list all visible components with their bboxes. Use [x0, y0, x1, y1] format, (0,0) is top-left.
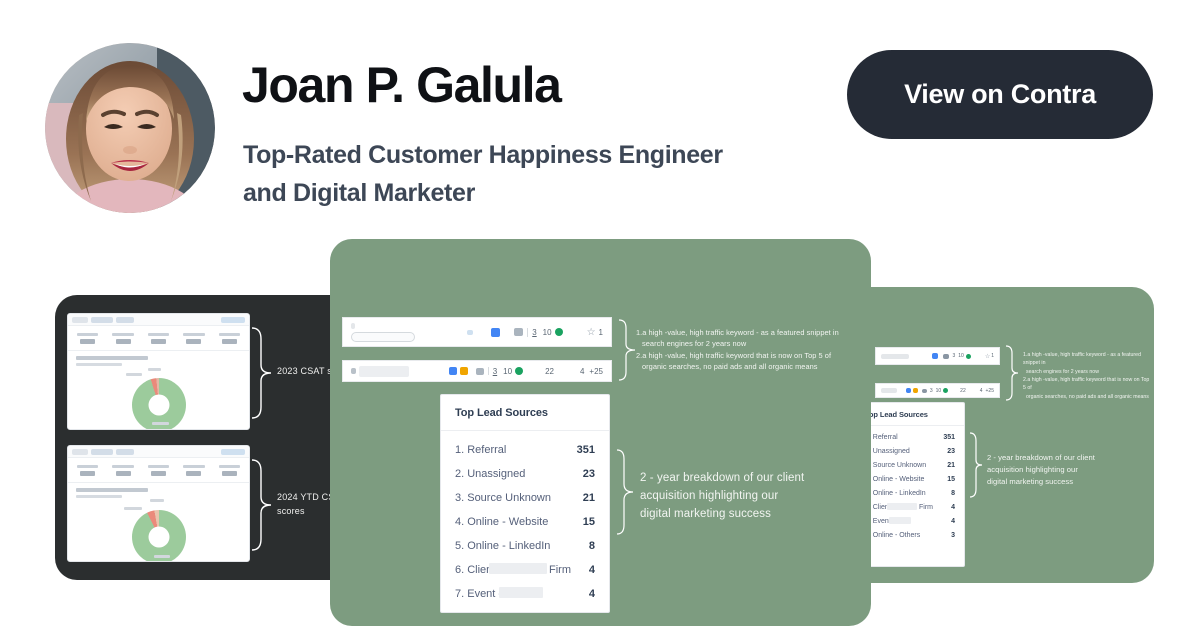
info-badge-icon	[491, 328, 500, 337]
rank-value: 3	[532, 328, 536, 337]
info-badge-icon	[932, 353, 938, 359]
lead-value: 4	[589, 588, 595, 600]
seo-anno-line-1: 1.a high -value, high traffic keyword - …	[1023, 351, 1151, 368]
volume-value-small: 22	[960, 388, 966, 394]
lead-value: 23	[947, 448, 955, 455]
table-row: 4. Online - Website 15	[455, 510, 595, 534]
search-input-text	[351, 323, 355, 329]
top-lead-sources-card[interactable]: Top Lead Sources 1. Referral 351 2. Unas…	[440, 394, 610, 613]
leads-list: 1. Referral 351 2. Unassigned 23 3. Sour…	[441, 431, 609, 613]
star-icon: ☆	[985, 353, 990, 360]
table-row: 3. Source Unknown 21	[455, 486, 595, 510]
star-value-small: 1	[991, 353, 994, 359]
dashboard-toolbar	[68, 314, 249, 326]
toolbar-filter-chip	[116, 317, 134, 323]
lead-label: 1. Referral	[455, 444, 506, 456]
status-dot-icon	[943, 388, 948, 393]
warning-badge-icon	[460, 367, 468, 375]
subtitle-line-1: Top-Rated Customer Happiness Engineer	[243, 136, 823, 174]
donut-chart-area	[68, 351, 249, 428]
leads-anno-line-2: acquisition highlighting our	[987, 464, 1117, 476]
count-value: 10	[543, 328, 552, 337]
rank-value-2: 3	[493, 367, 497, 376]
warning-badge-icon	[913, 388, 918, 393]
lead-label: 5. Online - LinkedIn	[865, 490, 926, 497]
leads-annotation: 2 - year breakdown of our client acquisi…	[640, 470, 858, 523]
leads-anno-line-2: acquisition highlighting our	[640, 488, 858, 506]
search-input-text	[351, 368, 356, 374]
brace-2023	[251, 327, 273, 419]
dashboard-toolbar	[68, 446, 249, 458]
seo-anno-line-3: 2.a high -value, high traffic keyword th…	[636, 350, 858, 361]
redacted-text	[889, 517, 911, 524]
lead-label: 8. Online - Others	[455, 612, 542, 613]
search-hint-text	[467, 330, 473, 335]
kpi-metric	[105, 465, 140, 476]
lead-label: 4. Online - Website	[455, 516, 548, 528]
kpi-metric	[70, 465, 105, 476]
seo-anno-line-4: organic searches, no paid ads and all or…	[636, 361, 858, 372]
donut-label	[150, 499, 164, 502]
redacted-text	[489, 563, 547, 574]
brace-2024	[251, 459, 273, 551]
count-value-small-2: 10	[936, 388, 942, 394]
lead-label: 2. Unassigned	[455, 468, 525, 480]
csat-dashboard-2024[interactable]	[67, 445, 250, 562]
brace-seo-small	[1005, 345, 1019, 401]
redacted-text	[499, 587, 543, 598]
table-row: 8. Online - Others 3	[455, 606, 595, 613]
page-subtitle: Top-Rated Customer Happiness Engineer an…	[243, 136, 823, 212]
delta-value-small: +25	[986, 388, 994, 394]
toolbar-chip	[72, 317, 88, 323]
delta-value: +25	[589, 367, 603, 376]
keyword-search-row-small-2[interactable]: 3 10 22 4 +25	[875, 383, 1000, 398]
toolbar-action-chip	[221, 449, 245, 455]
lead-label: 5. Online - LinkedIn	[455, 540, 550, 552]
count-value-2: 10	[503, 367, 512, 376]
leads-anno-line-3: digital marketing success	[987, 476, 1117, 488]
status-dot-icon	[555, 328, 563, 336]
list-icon	[476, 368, 484, 375]
donut-label	[154, 555, 170, 558]
lead-label: 2. Unassigned	[865, 448, 910, 455]
star-value: 1	[599, 328, 603, 337]
seo-annotation-small: 1.a high -value, high traffic keyword - …	[1023, 351, 1151, 401]
donut-label	[152, 422, 169, 425]
divider	[488, 367, 489, 375]
divider	[527, 328, 528, 337]
position-value: 4	[580, 367, 584, 376]
keyword-search-row-small[interactable]: 3 10 ☆ 1	[875, 347, 1000, 365]
kpi-metric	[70, 333, 105, 344]
donut-chart-area	[68, 483, 249, 560]
brace-leads	[616, 449, 634, 535]
kpi-metric	[141, 465, 176, 476]
volume-value: 22	[545, 367, 554, 376]
lead-value: 21	[583, 492, 595, 504]
avatar-photo	[45, 43, 215, 213]
seo-anno-line-4: organic searches, no paid ads and all or…	[1023, 393, 1151, 401]
lead-label: 4. Online - Website	[865, 476, 924, 483]
list-item: 5. Online - LinkedIn 8	[865, 486, 955, 500]
lead-label: 7. Event -	[455, 588, 502, 600]
list-item: 8. Online - Others 3	[865, 528, 955, 542]
donut-label	[148, 368, 161, 371]
toolbar-chip	[72, 449, 88, 455]
lead-value: 8	[589, 540, 595, 552]
seo-annotation: 1.a high -value, high traffic keyword - …	[636, 327, 858, 373]
lead-value: 21	[947, 462, 955, 469]
list-item: 3. Source Unknown 21	[865, 458, 955, 472]
lead-value: 15	[583, 516, 595, 528]
status-dot-icon	[515, 367, 523, 375]
table-row: 5. Online - LinkedIn 8	[455, 534, 595, 558]
position-value-small: 4	[980, 388, 983, 394]
list-icon	[943, 354, 949, 359]
info-badge-icon	[449, 367, 457, 375]
toolbar-action-chip	[221, 317, 245, 323]
table-row: 6. Clien Firm 4	[455, 558, 595, 582]
table-row: 1. Referral 351	[455, 438, 595, 462]
poster-canvas: Joan P. Galula Top-Rated Customer Happin…	[0, 0, 1200, 630]
seo-results-panel: 3 10 ☆ 1 3 10 22 4 +25 1.a high -value, …	[330, 239, 871, 626]
lead-label: 8. Online - Others	[865, 532, 920, 539]
toolbar-filter-chip	[91, 317, 113, 323]
toolbar-filter-chip	[91, 449, 113, 455]
seo-anno-line-3: 2.a high -value, high traffic keyword th…	[1023, 376, 1151, 393]
lead-value: 4	[951, 518, 955, 525]
chart-heading	[76, 488, 148, 498]
lead-label: 3. Source Unknown	[455, 492, 551, 504]
star-icon[interactable]: ☆	[587, 327, 596, 338]
kpi-metric	[176, 333, 211, 344]
list-item: 1. Referral 351	[865, 430, 955, 444]
brace-seo	[618, 319, 636, 381]
kpi-row	[68, 326, 249, 351]
info-badge-icon	[906, 388, 911, 393]
list-icon	[922, 389, 927, 393]
lead-value: 4	[951, 504, 955, 511]
toolbar-filter-chip	[116, 449, 134, 455]
leads-list-small: 1. Referral 351 2. Unassigned 23 3. Sour…	[856, 426, 964, 546]
csat-dashboard-2023[interactable]	[67, 313, 250, 430]
donut-label	[126, 373, 142, 376]
view-on-contra-label: View on Contra	[904, 79, 1096, 110]
top-lead-sources-card-small[interactable]: Top Lead Sources 1. Referral 351 2. Unas…	[855, 402, 965, 567]
lead-label: 6. Clien	[455, 564, 492, 576]
lead-value: 351	[577, 444, 595, 456]
avatar	[45, 43, 215, 213]
seo-anno-line-2: search engines for 2 years now	[1023, 368, 1151, 376]
donut-label	[124, 507, 142, 510]
subtitle-line-2: and Digital Marketer	[243, 174, 823, 212]
lead-value: 3	[951, 532, 955, 539]
status-dot-icon	[966, 354, 971, 359]
rank-value-small-2: 3	[930, 388, 933, 394]
redacted-text	[887, 503, 917, 510]
count-value-small: 10	[958, 353, 964, 359]
kpi-metric	[176, 465, 211, 476]
table-row: 7. Event - 4	[455, 582, 595, 606]
list-icon	[514, 328, 523, 336]
search-input-placeholder	[881, 354, 909, 359]
chart-heading	[76, 356, 148, 366]
leads-anno-line-1: 2 - year breakdown of our client	[640, 470, 858, 488]
keyword-filter-chip[interactable]	[351, 332, 415, 342]
lead-value: 351	[943, 434, 955, 441]
kpi-metric	[212, 465, 247, 476]
kpi-metric	[105, 333, 140, 344]
leads-anno-line-3: digital marketing success	[640, 506, 858, 524]
lead-value: 23	[583, 468, 595, 480]
lead-value: 15	[947, 476, 955, 483]
lead-value: 3	[589, 612, 595, 613]
list-item: 2. Unassigned 23	[865, 444, 955, 458]
keyword-search-row-2[interactable]: 3 10 22 4 +25	[342, 360, 612, 382]
lead-value: 4	[589, 564, 595, 576]
brace-leads-small	[969, 432, 983, 498]
rank-value-small: 3	[952, 353, 955, 359]
list-item: 4. Online - Website 15	[865, 472, 955, 486]
table-row: 2. Unassigned 23	[455, 462, 595, 486]
view-on-contra-button[interactable]: View on Contra	[847, 50, 1153, 139]
lead-label: 3. Source Unknown	[865, 462, 926, 469]
seo-anno-line-2: search engines for 2 years now	[636, 338, 858, 349]
leads-title: Top Lead Sources	[441, 395, 609, 431]
lead-label-tail: Firm	[549, 564, 571, 576]
list-item: 7. Event - 4	[865, 514, 955, 528]
search-input-placeholder	[881, 388, 897, 393]
leads-anno-line-1: 2 - year breakdown of our client	[987, 452, 1117, 464]
keyword-search-row[interactable]: 3 10 ☆ 1	[342, 317, 612, 347]
kpi-row	[68, 458, 249, 483]
leads-annotation-small: 2 - year breakdown of our client acquisi…	[987, 452, 1117, 488]
list-item: 6. Clien Firm 4	[865, 500, 955, 514]
leads-title-small: Top Lead Sources	[856, 403, 964, 426]
page-title: Joan P. Galula	[242, 58, 561, 112]
lead-label-tail: Firm	[919, 504, 933, 511]
kpi-metric	[141, 333, 176, 344]
redacted-keyword	[359, 366, 409, 377]
kpi-metric	[212, 333, 247, 344]
seo-results-panel-small: 3 10 ☆ 1 3 10 22 4 +25 1.a high -value, …	[845, 287, 1154, 583]
seo-anno-line-1: 1.a high -value, high traffic keyword - …	[636, 327, 858, 338]
lead-value: 8	[951, 490, 955, 497]
